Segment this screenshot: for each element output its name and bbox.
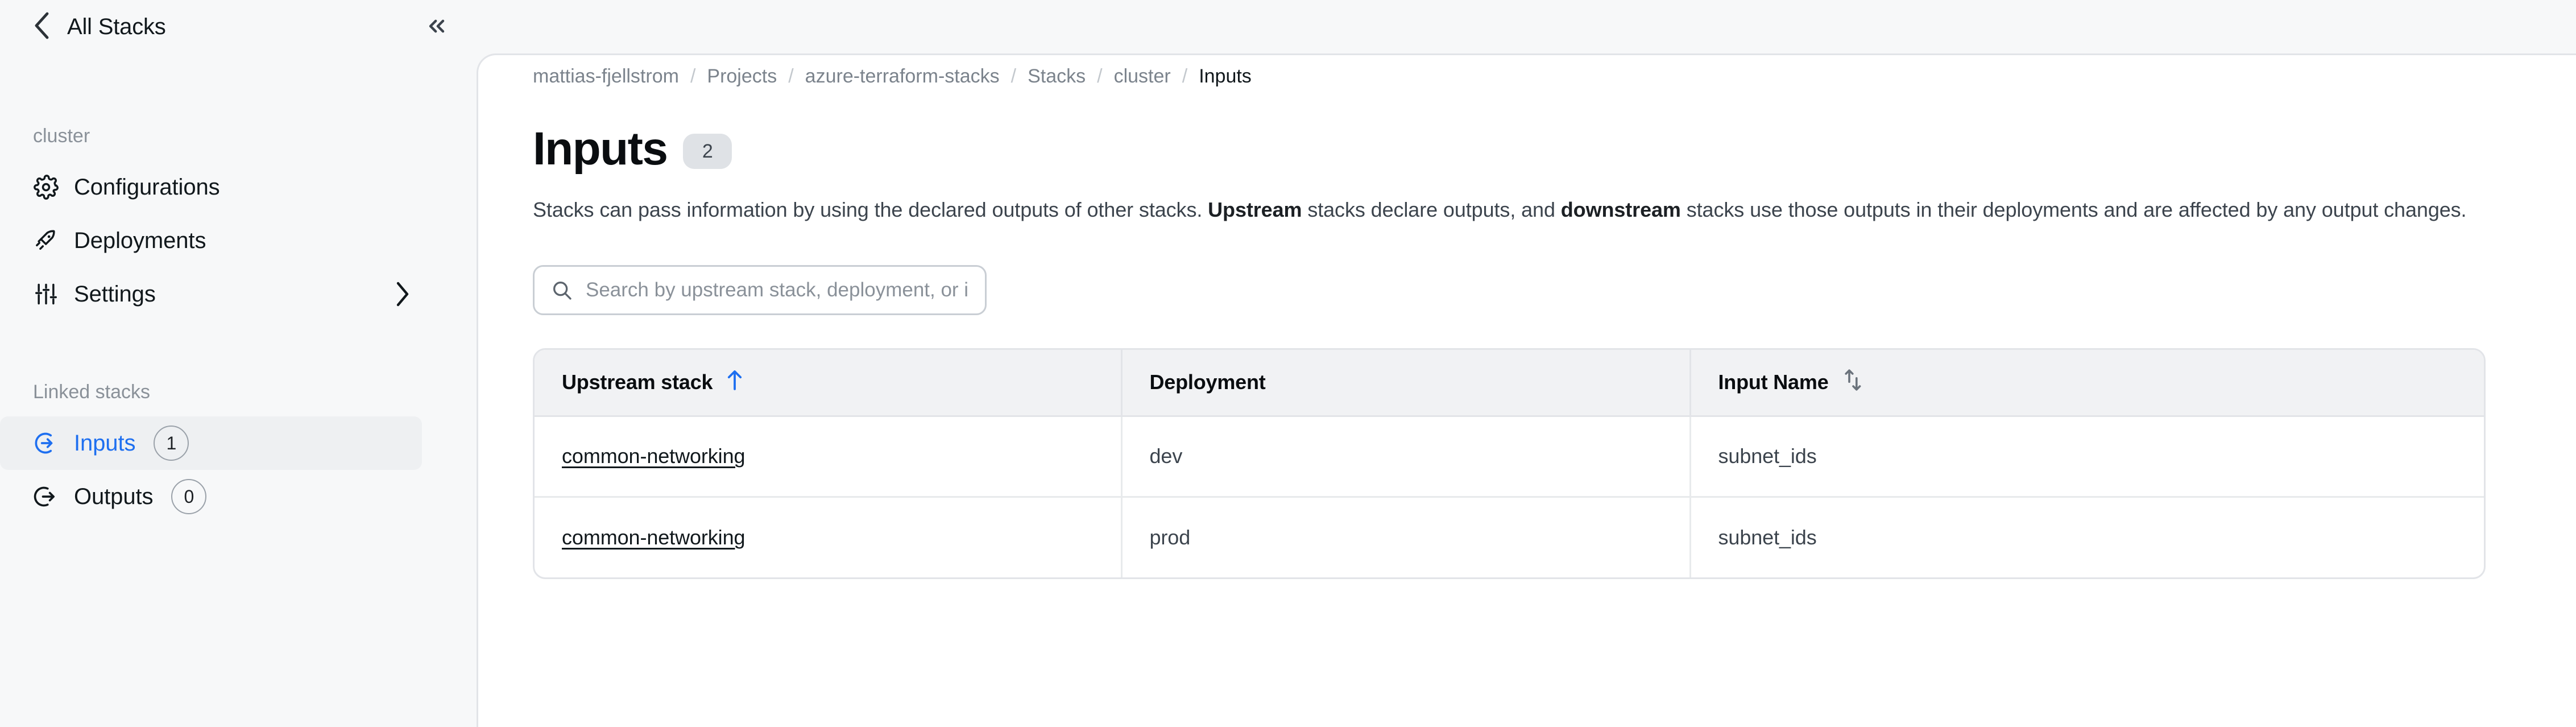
rocket-icon xyxy=(33,228,59,254)
breadcrumb-item-stack[interactable]: cluster xyxy=(1114,67,1171,86)
column-header-label: Input Name xyxy=(1718,370,1829,394)
search-field[interactable] xyxy=(533,265,987,315)
search-icon xyxy=(550,279,573,301)
sidebar: All Stacks cluster xyxy=(0,0,477,727)
description-text-2: stacks declare outputs, and xyxy=(1302,198,1560,221)
inputs-table: Upstream stack xyxy=(533,348,2486,579)
breadcrumb-item-org[interactable]: mattias-fjellstrom xyxy=(533,67,679,86)
inputs-count-badge: 1 xyxy=(154,426,189,461)
sliders-icon xyxy=(33,281,59,307)
column-header-deployment[interactable]: Deployment xyxy=(1121,350,1690,416)
breadcrumb-item-stacks[interactable]: Stacks xyxy=(1028,67,1086,86)
all-stacks-back-link[interactable]: All Stacks xyxy=(33,11,166,43)
breadcrumb-item-projects[interactable]: Projects xyxy=(707,67,777,86)
table-row[interactable]: common-networking dev subnet_ids xyxy=(535,416,2484,497)
outputs-count-badge: 0 xyxy=(171,479,206,514)
page-title-count-badge: 2 xyxy=(683,134,732,169)
column-header-label: Deployment xyxy=(1150,370,1266,394)
sidebar-item-configurations[interactable]: Configurations xyxy=(0,160,422,214)
cell-input-name: subnet_ids xyxy=(1690,416,2484,497)
upstream-stack-link[interactable]: common-networking xyxy=(562,444,745,468)
breadcrumb-separator: / xyxy=(1097,67,1102,86)
sidebar-item-label: Outputs xyxy=(74,485,153,508)
sidebar-collapse-button[interactable] xyxy=(419,9,455,45)
sidebar-item-label: Deployments xyxy=(74,229,206,252)
column-header-upstream-stack[interactable]: Upstream stack xyxy=(535,350,1121,416)
chevrons-left-icon xyxy=(424,14,449,40)
cell-upstream-stack: common-networking xyxy=(535,497,1121,577)
column-header-label: Upstream stack xyxy=(562,370,713,394)
breadcrumb-separator: / xyxy=(1182,67,1187,86)
cell-deployment: prod xyxy=(1121,497,1690,577)
sidebar-item-label: Settings xyxy=(74,283,156,305)
cell-input-name: subnet_ids xyxy=(1690,497,2484,577)
description-text-1: Stacks can pass information by using the… xyxy=(533,198,1208,221)
breadcrumb-separator: / xyxy=(1011,67,1016,86)
sidebar-section-label-linked-stacks: Linked stacks xyxy=(0,382,449,402)
breadcrumb-separator: / xyxy=(788,67,793,86)
arrow-out-of-circle-icon xyxy=(33,484,59,510)
table-header-row: Upstream stack xyxy=(535,350,2484,416)
sidebar-item-label: Inputs xyxy=(74,432,135,455)
arrow-into-circle-icon xyxy=(33,430,59,456)
page-description: Stacks can pass information by using the… xyxy=(533,195,2557,224)
sidebar-item-outputs[interactable]: Outputs 0 xyxy=(0,470,422,523)
chevron-left-icon xyxy=(33,11,52,43)
sidebar-item-label: Configurations xyxy=(74,176,220,199)
breadcrumb-item-project[interactable]: azure-terraform-stacks xyxy=(805,67,1000,86)
main-content-panel: mattias-fjellstrom / Projects / azure-te… xyxy=(477,53,2576,727)
gear-icon xyxy=(33,174,59,200)
sidebar-item-settings[interactable]: Settings xyxy=(0,267,422,321)
description-bold-downstream: downstream xyxy=(1561,198,1681,221)
chevron-right-icon xyxy=(394,281,412,307)
sidebar-group-cluster: Configurations Deployments xyxy=(0,160,449,321)
sidebar-group-linked-stacks: Inputs 1 Outputs 0 xyxy=(0,416,449,523)
column-header-input-name[interactable]: Input Name xyxy=(1690,350,2484,416)
description-text-3: stacks use those outputs in their deploy… xyxy=(1681,198,2467,221)
sidebar-header: All Stacks xyxy=(0,0,477,53)
sidebar-item-deployments[interactable]: Deployments xyxy=(0,214,422,267)
cell-upstream-stack: common-networking xyxy=(535,416,1121,497)
description-bold-upstream: Upstream xyxy=(1208,198,1302,221)
breadcrumb: mattias-fjellstrom / Projects / azure-te… xyxy=(533,67,2576,86)
page-title: Inputs xyxy=(533,126,667,172)
upstream-stack-link[interactable]: common-networking xyxy=(562,526,745,549)
all-stacks-label: All Stacks xyxy=(67,15,166,38)
sidebar-item-inputs[interactable]: Inputs 1 xyxy=(0,416,422,470)
search-input[interactable] xyxy=(586,279,969,301)
cell-deployment: dev xyxy=(1121,416,1690,497)
app-shell: All Stacks cluster xyxy=(0,0,2576,727)
arrow-up-icon xyxy=(725,369,744,396)
sidebar-nav: cluster Configurations xyxy=(0,126,477,523)
arrow-up-down-icon xyxy=(1841,367,1864,398)
page-title-row: Inputs 2 xyxy=(533,126,2576,172)
breadcrumb-item-current: Inputs xyxy=(1199,67,1252,86)
sidebar-section-label-cluster: cluster xyxy=(0,126,449,146)
breadcrumb-separator: / xyxy=(690,67,695,86)
table-row[interactable]: common-networking prod subnet_ids xyxy=(535,497,2484,577)
